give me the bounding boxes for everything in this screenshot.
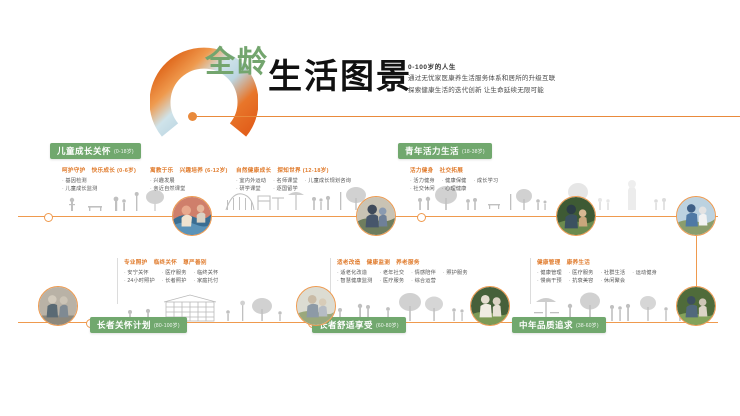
list-item: 儿童成长规划咨询 <box>305 177 351 184</box>
item-column: 名师课堂 逐国留学 <box>273 177 298 193</box>
item-column: 健康管理 慢病干预 <box>537 269 562 285</box>
list-item: 长者照护 <box>162 277 187 284</box>
list-item: 适老化改造 <box>337 269 372 276</box>
item-column: 基因检测 儿童成长监测 <box>62 177 97 193</box>
subtitle-line-3: 探索健康生活的迭代创新 让生命延续无限可能 <box>408 85 555 96</box>
badge-youth[interactable]: 青年活力生活 (18-38岁) <box>398 143 492 159</box>
group-headings: 呵护守护快乐成长 (0-6岁) <box>62 166 142 174</box>
photo-image <box>677 197 715 235</box>
subtitle-line-2: 通过无忧家医康养生活服务体系和居所的升级互联 <box>408 73 555 84</box>
item-column: 室内外运动 研学课堂 <box>236 177 266 193</box>
list-item: 24小时照护 <box>124 277 155 284</box>
list-item: 安宁关怀 <box>124 269 155 276</box>
text-block-midlife: 健康管理康养生活 健康管理 慢病干预 医疗服务 抗衰美容 社群生活 休闲聚会 运… <box>537 258 657 284</box>
badge-label: 儿童成长关怀 <box>57 145 111 157</box>
heading: 健康管理 <box>537 260 561 266</box>
list-item: 室内外运动 <box>236 177 266 184</box>
heading: 自然健康成长 <box>236 168 271 174</box>
item-column: 医疗服务 抗衰美容 <box>569 269 594 285</box>
badge-range: (38-60岁) <box>576 322 599 329</box>
item-columns: 活力健身 社交休闲 健康保健 心理健康 成长学习 <box>410 177 498 193</box>
heading: 尊严善别 <box>183 260 207 266</box>
list-item: 心理健康 <box>442 185 467 192</box>
heading: 探知世界 (12-18岁) <box>277 168 328 174</box>
infographic-canvas: 全龄 生活图景 0-100岁的人生 通过无忧家医康养生活服务体系和居所的升级互联… <box>0 0 740 416</box>
heading: 兴趣培养 (6-12岁) <box>180 168 228 174</box>
heading: 寓教于乐 <box>150 168 174 174</box>
heading: 康养生活 <box>567 260 591 266</box>
scenery-silhouette <box>60 188 170 218</box>
text-block-youth-0: 活力健身社交拓展 活力健身 社交休闲 健康保健 心理健康 成长学习 <box>410 166 498 192</box>
list-item: 成长学习 <box>474 177 499 184</box>
list-item: 综合运营 <box>411 277 436 284</box>
list-item: 医疗服务 <box>379 277 404 284</box>
badge-range: (60-80岁) <box>376 322 399 329</box>
heading: 临终关怀 <box>154 260 178 266</box>
photo-image <box>557 197 595 235</box>
photo-elder-walk[interactable] <box>676 286 716 326</box>
photo-image <box>471 287 509 325</box>
badge-label: 中年品质追求 <box>519 319 573 331</box>
timeline-node <box>44 213 53 222</box>
heading: 快乐成长 (0-6岁) <box>92 168 137 174</box>
photo-youth-outdoor[interactable] <box>356 196 396 236</box>
list-item: 慢病干预 <box>537 277 562 284</box>
list-item: 兴趣发展 <box>150 177 185 184</box>
text-block-children-1: 寓教于乐兴趣培养 (6-12岁) 兴趣发展 亲近自然课堂 <box>150 166 234 192</box>
photo-children-play[interactable] <box>172 196 212 236</box>
list-item: 健康保健 <box>442 177 467 184</box>
badge-children[interactable]: 儿童成长关怀 (0-18岁) <box>50 143 141 159</box>
photo-image <box>677 287 715 325</box>
list-item: 医疗服务 <box>569 269 594 276</box>
subtitle-line-1: 0-100岁的人生 <box>408 62 555 73</box>
list-item: 运动健身 <box>632 269 657 276</box>
badge-elder-care[interactable]: 长者关怀计划 (80-100岁) <box>90 317 187 333</box>
item-column: 老年社交 医疗服务 <box>379 269 404 285</box>
list-item: 家庭托付 <box>194 277 219 284</box>
header: 全龄 生活图景 0-100岁的人生 通过无忧家医康养生活服务体系和居所的升级互联… <box>0 0 740 140</box>
block-divider <box>117 258 118 304</box>
item-column: 社群生活 休闲聚会 <box>601 269 626 285</box>
list-item: 医疗服务 <box>162 269 187 276</box>
item-column: 照护服务 <box>443 269 468 285</box>
photo-image <box>357 197 395 235</box>
photo-elder-garden[interactable] <box>296 286 336 326</box>
heading: 活力健身 <box>410 168 434 174</box>
group-headings: 健康管理康养生活 <box>537 258 657 266</box>
list-item: 社交休闲 <box>410 185 435 192</box>
list-item: 情感陪伴 <box>411 269 436 276</box>
badge-label: 青年活力生活 <box>405 145 459 157</box>
photo-image <box>39 287 77 325</box>
list-item: 休闲聚会 <box>601 277 626 284</box>
item-columns: 基因检测 儿童成长监测 <box>62 177 142 193</box>
text-block-elder-care: 专业照护临终关怀尊严善别 安宁关怀 24小时照护 医疗服务 长者照护 临终关怀 … <box>124 258 218 284</box>
title-accent: 全龄 <box>205 48 269 78</box>
item-column: 兴趣发展 亲近自然课堂 <box>150 177 185 193</box>
item-column: 儿童成长规划咨询 <box>305 177 351 193</box>
text-block-children-2: 自然健康成长探知世界 (12-18岁) 室内外运动 研学课堂 名师课堂 逐国留学… <box>236 166 351 192</box>
item-column: 运动健身 <box>632 269 657 285</box>
item-column: 情感陪伴 综合运营 <box>411 269 436 285</box>
heading: 养老服务 <box>396 260 420 266</box>
photo-couple-walk[interactable] <box>676 196 716 236</box>
list-item: 抗衰美容 <box>569 277 594 284</box>
badge-range: (0-18岁) <box>114 148 134 155</box>
badge-range: (80-100岁) <box>154 322 180 329</box>
item-columns: 兴趣发展 亲近自然课堂 <box>150 177 234 193</box>
subtitle: 0-100岁的人生 通过无忧家医康养生活服务体系和居所的升级互联 探索健康生活的… <box>408 62 555 96</box>
photo-two-women[interactable] <box>470 286 510 326</box>
heading: 适老改造 <box>337 260 361 266</box>
list-item: 照护服务 <box>443 269 468 276</box>
list-item: 健康管理 <box>537 269 562 276</box>
text-block-elder-comfort: 适老改造健康监测养老服务 适老化改造 智慧健康监测 老年社交 医疗服务 情感陪伴… <box>337 258 468 284</box>
item-columns: 健康管理 慢病干预 医疗服务 抗衰美容 社群生活 休闲聚会 运动健身 <box>537 269 657 285</box>
list-item: 名师课堂 <box>273 177 298 184</box>
list-item: 智慧健康监测 <box>337 277 372 284</box>
badge-label: 长者关怀计划 <box>97 319 151 331</box>
item-column: 成长学习 <box>474 177 499 193</box>
text-block-children-0: 呵护守护快乐成长 (0-6岁) 基因检测 儿童成长监测 <box>62 166 142 192</box>
heading: 专业照护 <box>124 260 148 266</box>
group-headings: 活力健身社交拓展 <box>410 166 498 174</box>
group-headings: 专业照护临终关怀尊严善别 <box>124 258 218 266</box>
photo-image <box>173 197 211 235</box>
heading: 社交拓展 <box>440 168 464 174</box>
list-item: 老年社交 <box>379 269 404 276</box>
item-column: 安宁关怀 24小时照护 <box>124 269 155 285</box>
group-headings: 自然健康成长探知世界 (12-18岁) <box>236 166 351 174</box>
list-item: 临终关怀 <box>194 269 219 276</box>
list-item: 逐国留学 <box>273 185 298 192</box>
page-title: 生活图景 <box>268 60 412 94</box>
item-column: 适老化改造 智慧健康监测 <box>337 269 372 285</box>
list-item: 基因检测 <box>62 177 97 184</box>
item-columns: 安宁关怀 24小时照护 医疗服务 长者照护 临终关怀 家庭托付 <box>124 269 218 285</box>
item-columns: 适老化改造 智慧健康监测 老年社交 医疗服务 情感陪伴 综合运营 照护服务 <box>337 269 468 285</box>
badge-range: (18-38岁) <box>462 148 485 155</box>
list-item: 儿童成长监测 <box>62 185 97 192</box>
item-column: 健康保健 心理健康 <box>442 177 467 193</box>
heading: 呵护守护 <box>62 168 86 174</box>
group-headings: 寓教于乐兴趣培养 (6-12岁) <box>150 166 234 174</box>
item-column: 临终关怀 家庭托付 <box>194 269 219 285</box>
item-column: 活力健身 社交休闲 <box>410 177 435 193</box>
group-headings: 适老改造健康监测养老服务 <box>337 258 468 266</box>
list-item: 活力健身 <box>410 177 435 184</box>
list-item: 社群生活 <box>601 269 626 276</box>
list-item: 亲近自然课堂 <box>150 185 185 192</box>
photo-image <box>297 287 335 325</box>
item-columns: 室内外运动 研学课堂 名师课堂 逐国留学 儿童成长规划咨询 <box>236 177 351 193</box>
block-divider <box>530 258 531 304</box>
list-item: 研学课堂 <box>236 185 266 192</box>
header-divider <box>196 116 740 117</box>
heading: 健康监测 <box>367 260 391 266</box>
photo-family-green[interactable] <box>556 196 596 236</box>
badge-midlife[interactable]: 中年品质追求 (38-60岁) <box>512 317 606 333</box>
item-column: 医疗服务 长者照护 <box>162 269 187 285</box>
photo-elder-pair[interactable] <box>38 286 78 326</box>
